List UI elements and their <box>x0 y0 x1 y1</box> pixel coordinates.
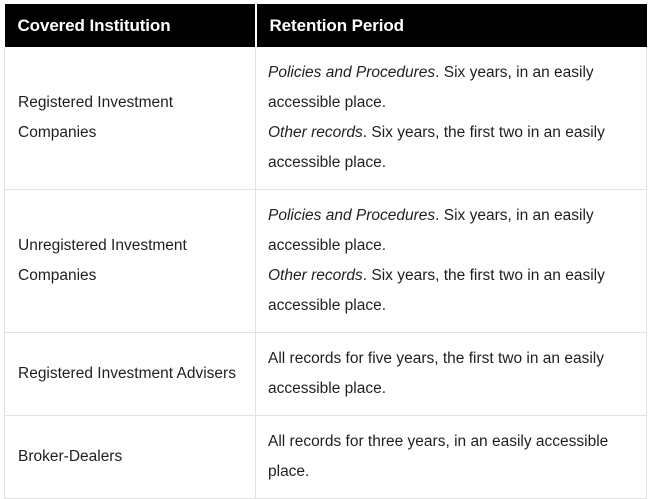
retention-lead: Policies and Procedures <box>268 64 435 81</box>
cell-retention-period: Policies and Procedures. Six years, in a… <box>256 190 647 333</box>
retention-lead: Other records <box>268 124 363 141</box>
table-header-row: Covered Institution Retention Period <box>5 4 647 47</box>
cell-retention-period: Policies and Procedures. Six years, in a… <box>256 47 647 190</box>
retention-text: All records for three years, in an easil… <box>268 433 608 480</box>
cell-covered-institution: Broker-Dealers <box>5 416 256 499</box>
column-header-retention-period: Retention Period <box>256 4 647 47</box>
records-retention-table: Covered Institution Retention Period Reg… <box>4 4 647 499</box>
retention-paragraph: Policies and Procedures. Six years, in a… <box>268 201 632 261</box>
cell-retention-period: All records for five years, the first tw… <box>256 333 647 416</box>
cell-covered-institution: Registered Investment Advisers <box>5 333 256 416</box>
table-row: Registered Investment Advisers All recor… <box>5 333 647 416</box>
retention-lead: Other records <box>268 267 363 284</box>
table-row: Broker-Dealers All records for three yea… <box>5 416 647 499</box>
retention-paragraph: Other records. Six years, the first two … <box>268 118 632 178</box>
records-retention-table-container: Covered Institution Retention Period Reg… <box>4 4 646 499</box>
retention-lead: Policies and Procedures <box>268 207 435 224</box>
retention-text: All records for five years, the first tw… <box>268 350 604 397</box>
cell-covered-institution: Unregistered Investment Companies <box>5 190 256 333</box>
retention-paragraph: All records for three years, in an easil… <box>268 427 632 487</box>
cell-covered-institution: Registered Investment Companies <box>5 47 256 190</box>
retention-paragraph: Policies and Procedures. Six years, in a… <box>268 58 632 118</box>
column-header-covered-institution: Covered Institution <box>5 4 256 47</box>
table-row: Registered Investment Companies Policies… <box>5 47 647 190</box>
table-body: Registered Investment Companies Policies… <box>5 47 647 499</box>
retention-paragraph: All records for five years, the first tw… <box>268 344 632 404</box>
cell-retention-period: All records for three years, in an easil… <box>256 416 647 499</box>
table-row: Unregistered Investment Companies Polici… <box>5 190 647 333</box>
retention-paragraph: Other records. Six years, the first two … <box>268 261 632 321</box>
table-header: Covered Institution Retention Period <box>5 4 647 47</box>
